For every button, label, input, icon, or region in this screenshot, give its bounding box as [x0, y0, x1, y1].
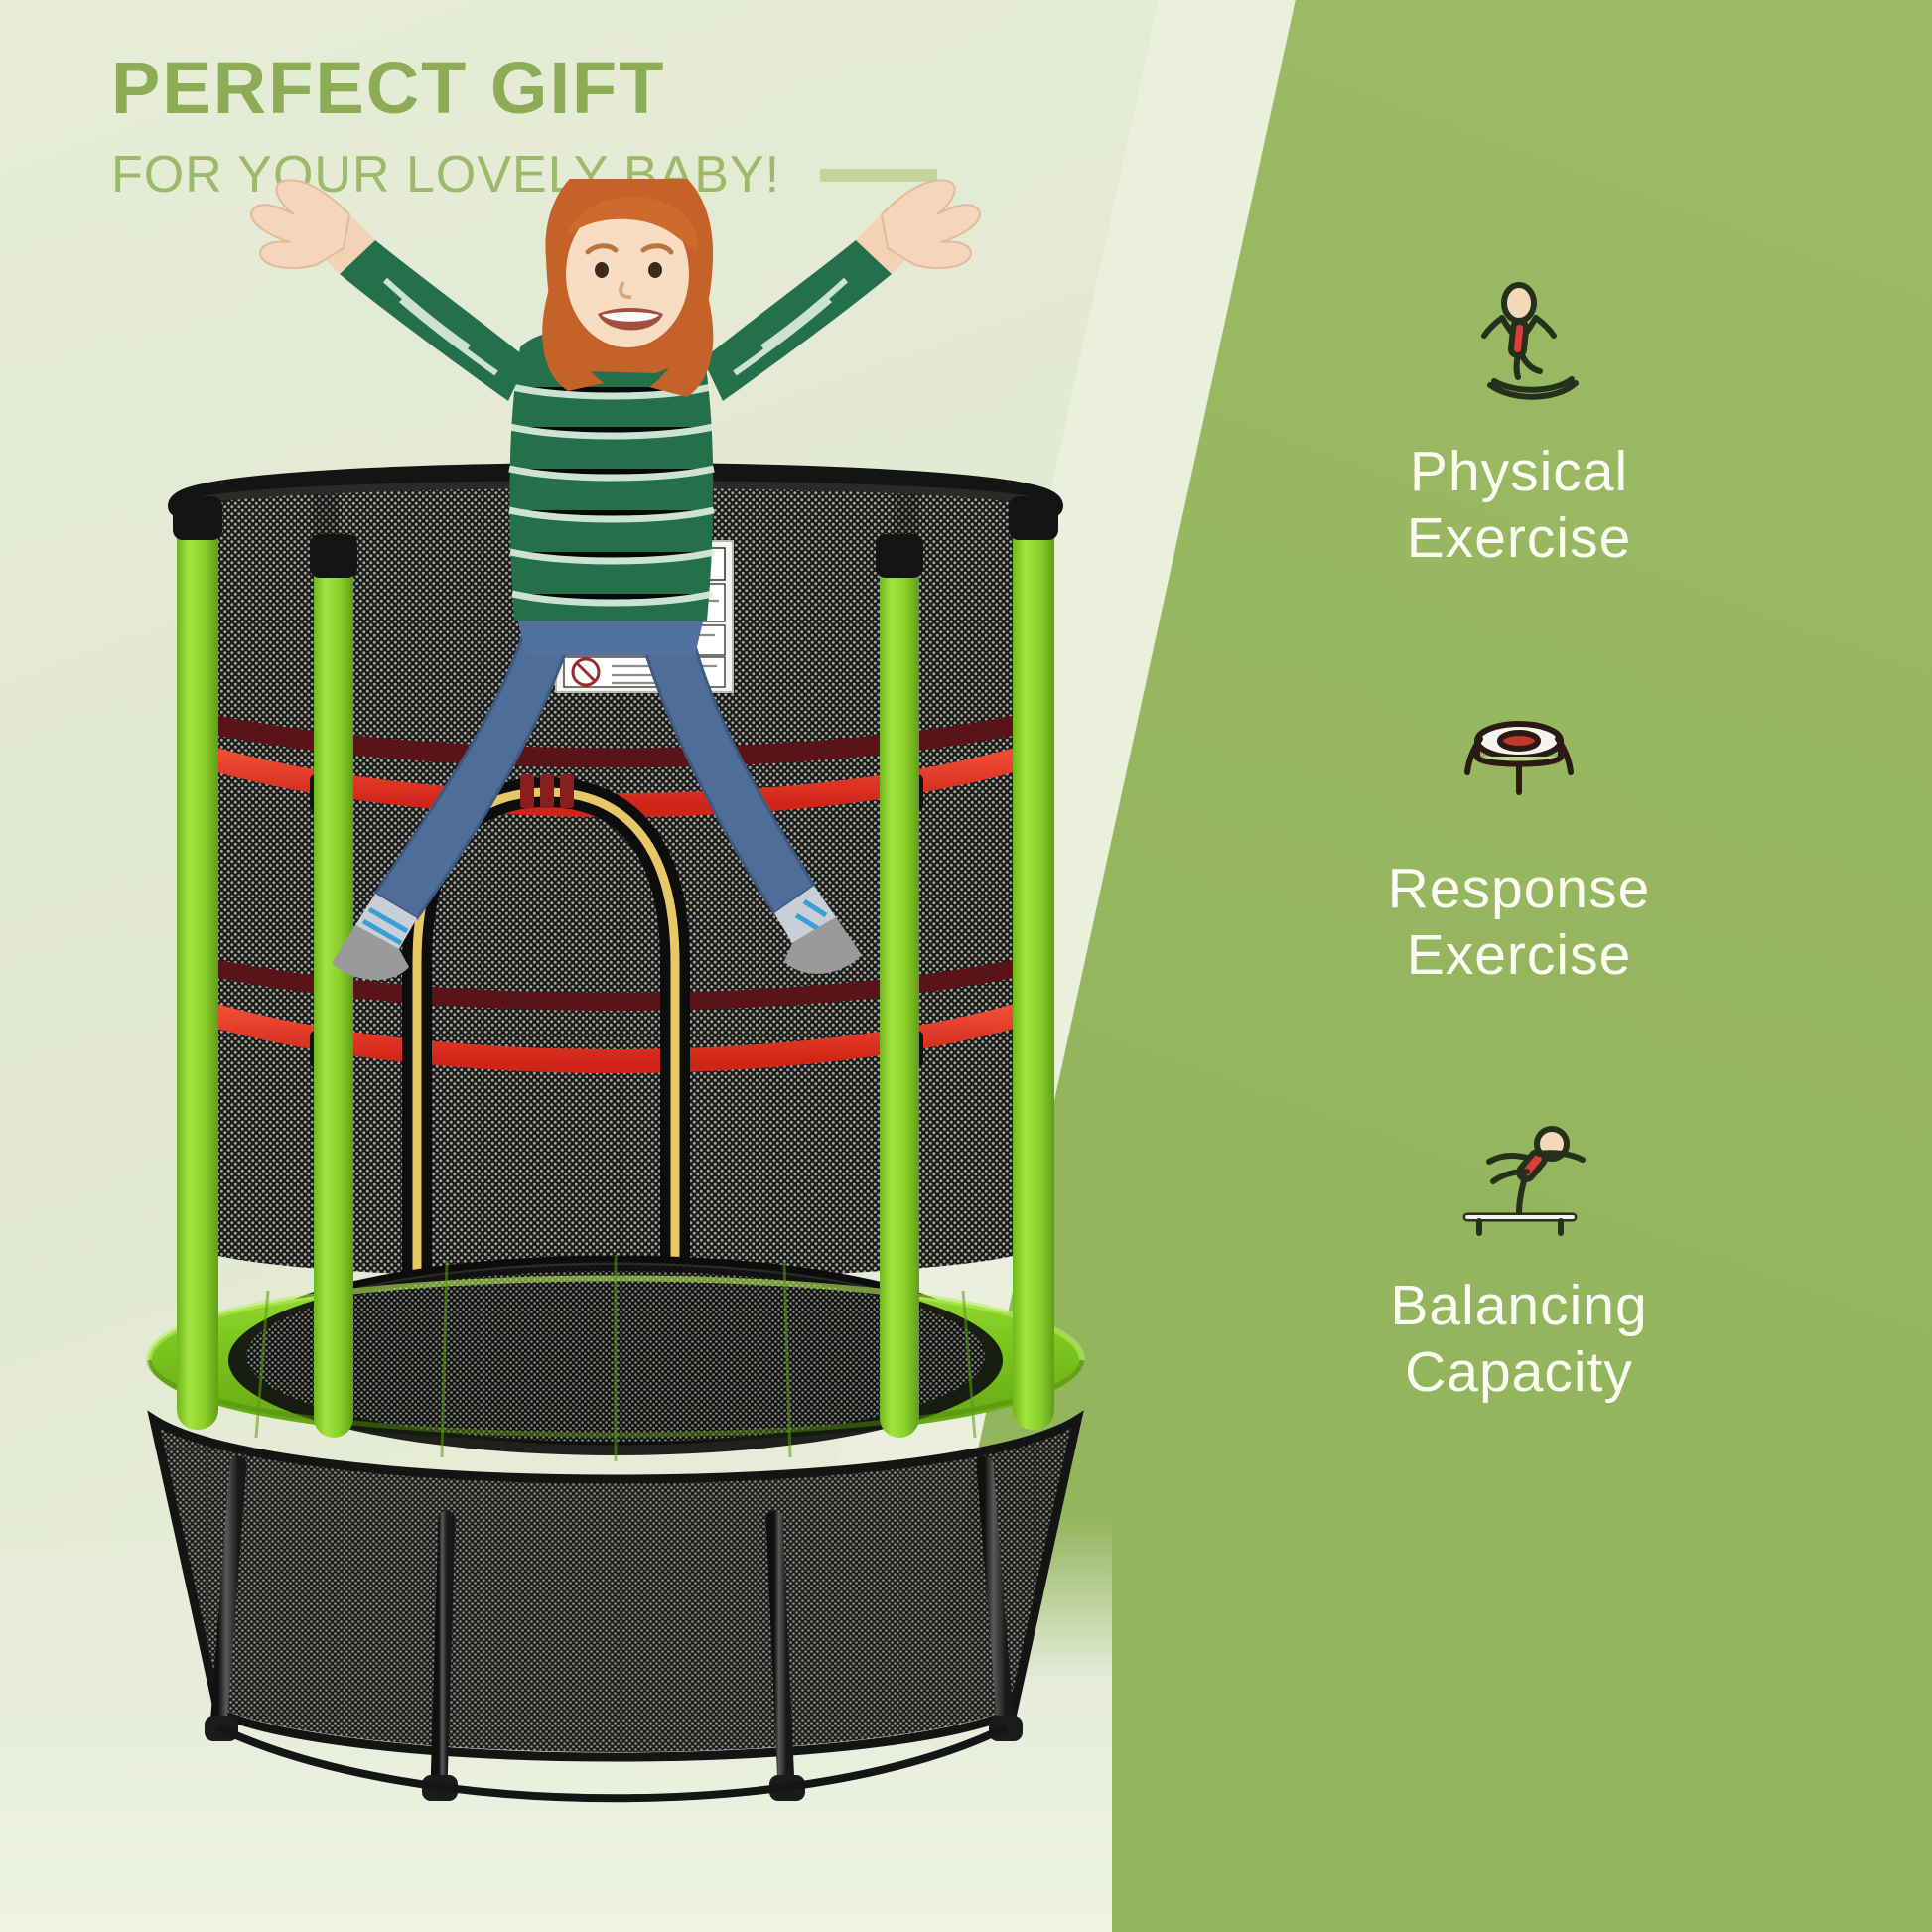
feature-label: Response Exercise — [1172, 856, 1866, 988]
person-balancing-on-beam-icon — [1172, 1112, 1866, 1241]
feature-label-line1: Physical — [1172, 439, 1866, 505]
feature-label-line2: Exercise — [1172, 922, 1866, 989]
frame-safety-pad — [149, 1255, 1082, 1461]
feature-label-line1: Balancing — [1172, 1273, 1866, 1339]
feature-label-line2: Capacity — [1172, 1339, 1866, 1406]
jumping-person-on-trampoline-icon — [1172, 278, 1866, 407]
feature-label: Balancing Capacity — [1172, 1273, 1866, 1405]
feature-list: Physical Exercise — [1172, 278, 1866, 1529]
feature-label: Physical Exercise — [1172, 439, 1866, 571]
banner-canvas: PERFECT GIFT FOR YOUR LOVELY BABY! — [0, 0, 1932, 1932]
feature-item-physical-exercise: Physical Exercise — [1172, 278, 1866, 695]
round-trampoline-icon — [1172, 695, 1866, 824]
product-image-trampoline: ~~~~~~ — [119, 179, 1112, 1866]
page-title: PERFECT GIFT — [111, 52, 937, 125]
feature-label-line1: Response — [1172, 856, 1866, 922]
feature-label-line2: Exercise — [1172, 505, 1866, 572]
feature-item-response-exercise: Response Exercise — [1172, 695, 1866, 1112]
feature-item-balancing-capacity: Balancing Capacity — [1172, 1112, 1866, 1529]
